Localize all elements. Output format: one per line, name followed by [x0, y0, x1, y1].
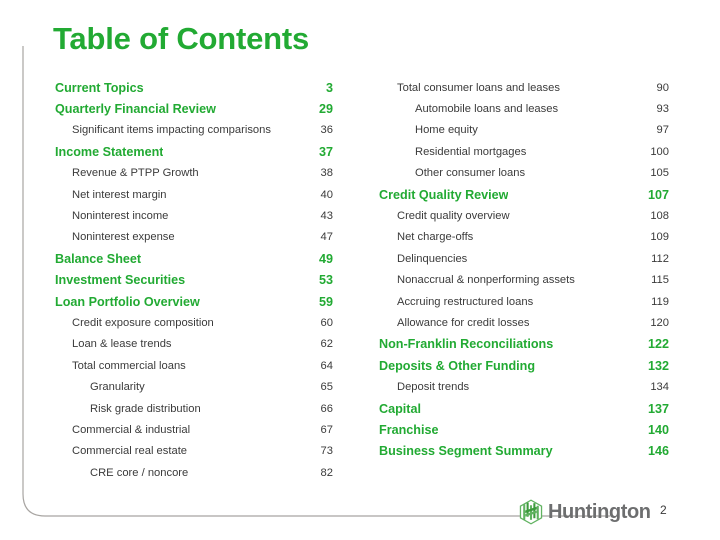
toc-entry[interactable]: Accruing restructured loans119 — [379, 291, 669, 312]
toc-entry-label: Delinquencies — [379, 253, 467, 265]
toc-entry-label: Current Topics — [55, 81, 144, 95]
brand-name: Huntington — [548, 501, 651, 524]
toc-entry[interactable]: Business Segment Summary146 — [379, 441, 669, 462]
toc-entry-page-number: 67 — [321, 419, 333, 440]
toc-entry[interactable]: Loan Portfolio Overview59 — [55, 291, 333, 312]
toc-entry-label: Accruing restructured loans — [379, 296, 533, 308]
toc-entry[interactable]: Credit quality overview108 — [379, 205, 669, 226]
slide-table-of-contents: Table of Contents Current Topics3Quarter… — [0, 0, 720, 540]
toc-entry-page-number: 109 — [650, 227, 669, 248]
toc-entry[interactable]: Credit Quality Review107 — [379, 184, 669, 205]
toc-entry-page-number: 120 — [650, 312, 669, 333]
toc-entry[interactable]: Allowance for credit losses120 — [379, 312, 669, 333]
toc-entry-label: Risk grade distribution — [55, 403, 201, 415]
slide-page-number: 2 — [660, 503, 667, 517]
huntington-hexagon-logo-icon — [518, 499, 544, 525]
toc-entry-label: CRE core / noncore — [55, 467, 188, 479]
toc-entry-page-number: 66 — [321, 398, 333, 419]
toc-entry-label: Home equity — [379, 124, 478, 136]
toc-entry-page-number: 90 — [657, 77, 669, 98]
toc-entry-page-number: 43 — [321, 205, 333, 226]
toc-entry-page-number: 132 — [648, 355, 669, 376]
toc-entry-label: Investment Securities — [55, 273, 185, 287]
toc-entry[interactable]: Automobile loans and leases93 — [379, 98, 669, 119]
toc-entry-label: Significant items impacting comparisons — [55, 124, 271, 136]
toc-entry[interactable]: Loan & lease trends62 — [55, 334, 333, 355]
toc-entry[interactable]: Total consumer loans and leases90 — [379, 77, 669, 98]
toc-entry-page-number: 73 — [321, 441, 333, 462]
toc-column-left: Current Topics3Quarterly Financial Revie… — [55, 77, 333, 483]
toc-entry[interactable]: Franchise140 — [379, 419, 669, 440]
toc-entry-page-number: 82 — [321, 462, 333, 483]
toc-entry-label: Revenue & PTPP Growth — [55, 167, 199, 179]
toc-entry-label: Commercial real estate — [55, 445, 187, 457]
toc-entry-label: Loan & lease trends — [55, 338, 172, 350]
toc-entry-page-number: 97 — [657, 120, 669, 141]
toc-entry[interactable]: Noninterest income43 — [55, 205, 333, 226]
toc-entry-page-number: 119 — [651, 291, 669, 312]
toc-entry-label: Noninterest expense — [55, 231, 175, 243]
toc-entry-label: Credit quality overview — [379, 210, 510, 222]
toc-entry-page-number: 37 — [319, 141, 333, 162]
toc-entry[interactable]: Granularity65 — [55, 376, 333, 397]
toc-entry-page-number: 3 — [326, 77, 333, 98]
toc-entry-page-number: 100 — [650, 141, 669, 162]
toc-entry-label: Residential mortgages — [379, 146, 526, 158]
toc-entry[interactable]: Risk grade distribution66 — [55, 398, 333, 419]
toc-entry-label: Other consumer loans — [379, 167, 525, 179]
toc-entry-page-number: 93 — [657, 98, 669, 119]
toc-entry-label: Noninterest income — [55, 210, 168, 222]
toc-entry-page-number: 38 — [321, 163, 333, 184]
toc-entry-page-number: 60 — [321, 312, 333, 333]
toc-entry-label: Credit Quality Review — [379, 188, 508, 202]
toc-entry-page-number: 134 — [650, 376, 669, 397]
toc-entry-label: Commercial & industrial — [55, 424, 190, 436]
toc-entry[interactable]: Quarterly Financial Review29 — [55, 98, 333, 119]
brand-logo: Huntington — [518, 498, 651, 526]
toc-entry[interactable]: Deposit trends134 — [379, 376, 669, 397]
toc-entry-label: Quarterly Financial Review — [55, 102, 216, 116]
toc-entry-label: Non-Franklin Reconciliations — [379, 337, 553, 351]
toc-entry-page-number: 36 — [321, 120, 333, 141]
toc-entry[interactable]: Nonaccrual & nonperforming assets115 — [379, 270, 669, 291]
toc-entry[interactable]: Investment Securities53 — [55, 270, 333, 291]
toc-entry-page-number: 112 — [651, 248, 669, 269]
toc-entry-label: Net charge-offs — [379, 231, 473, 243]
toc-entry-page-number: 115 — [651, 270, 669, 291]
toc-entry-page-number: 146 — [648, 441, 669, 462]
toc-entry[interactable]: Commercial & industrial67 — [55, 419, 333, 440]
toc-entry-label: Income Statement — [55, 145, 163, 159]
toc-entry[interactable]: Net interest margin40 — [55, 184, 333, 205]
toc-entry-label: Deposit trends — [379, 381, 469, 393]
toc-entry-page-number: 59 — [319, 291, 333, 312]
toc-entry-page-number: 47 — [321, 227, 333, 248]
toc-entry-label: Franchise — [379, 423, 439, 437]
toc-entry[interactable]: Total commercial loans64 — [55, 355, 333, 376]
toc-entry-label: Business Segment Summary — [379, 444, 553, 458]
toc-entry[interactable]: Significant items impacting comparisons3… — [55, 120, 333, 141]
toc-entry[interactable]: Noninterest expense47 — [55, 227, 333, 248]
toc-entry-label: Net interest margin — [55, 189, 167, 201]
toc-entry-page-number: 137 — [648, 398, 669, 419]
toc-entry-label: Nonaccrual & nonperforming assets — [379, 274, 575, 286]
toc-entry-page-number: 62 — [321, 334, 333, 355]
toc-entry[interactable]: Balance Sheet49 — [55, 248, 333, 269]
toc-entry-label: Granularity — [55, 381, 145, 393]
toc-entry-label: Capital — [379, 402, 421, 416]
toc-entry-label: Credit exposure composition — [55, 317, 214, 329]
toc-entry-page-number: 29 — [319, 98, 333, 119]
toc-entry-page-number: 40 — [321, 184, 333, 205]
toc-entry[interactable]: Capital137 — [379, 398, 669, 419]
toc-entry-label: Allowance for credit losses — [379, 317, 529, 329]
toc-entry[interactable]: Non-Franklin Reconciliations122 — [379, 334, 669, 355]
toc-entry[interactable]: Commercial real estate73 — [55, 441, 333, 462]
toc-entry[interactable]: Net charge-offs109 — [379, 227, 669, 248]
toc-entry[interactable]: Residential mortgages100 — [379, 141, 669, 162]
toc-entry[interactable]: CRE core / noncore82 — [55, 462, 333, 483]
toc-entry-label: Deposits & Other Funding — [379, 359, 535, 373]
toc-entry[interactable]: Revenue & PTPP Growth38 — [55, 163, 333, 184]
toc-entry-label: Loan Portfolio Overview — [55, 295, 200, 309]
toc-entry-label: Total consumer loans and leases — [379, 82, 560, 94]
toc-entry-page-number: 64 — [321, 355, 333, 376]
toc-entry-label: Automobile loans and leases — [379, 103, 558, 115]
toc-entry[interactable]: Income Statement37 — [55, 141, 333, 162]
toc-entry-page-number: 107 — [648, 184, 669, 205]
toc-entry[interactable]: Delinquencies112 — [379, 248, 669, 269]
toc-entry[interactable]: Home equity97 — [379, 120, 669, 141]
toc-entry-page-number: 65 — [321, 376, 333, 397]
toc-entry-label: Total commercial loans — [55, 360, 186, 372]
toc-entry-label: Balance Sheet — [55, 252, 141, 266]
toc-entry-page-number: 122 — [648, 334, 669, 355]
toc-entry[interactable]: Credit exposure composition60 — [55, 312, 333, 333]
toc-entry-page-number: 53 — [319, 270, 333, 291]
toc-column-right: Total consumer loans and leases90Automob… — [379, 77, 669, 462]
toc-entry[interactable]: Current Topics3 — [55, 77, 333, 98]
toc-entry[interactable]: Other consumer loans105 — [379, 163, 669, 184]
toc-entry-page-number: 140 — [648, 419, 669, 440]
toc-entry-page-number: 49 — [319, 248, 333, 269]
toc-entry-page-number: 105 — [650, 163, 669, 184]
toc-entry[interactable]: Deposits & Other Funding132 — [379, 355, 669, 376]
toc-entry-page-number: 108 — [650, 205, 669, 226]
page-title: Table of Contents — [53, 21, 309, 57]
